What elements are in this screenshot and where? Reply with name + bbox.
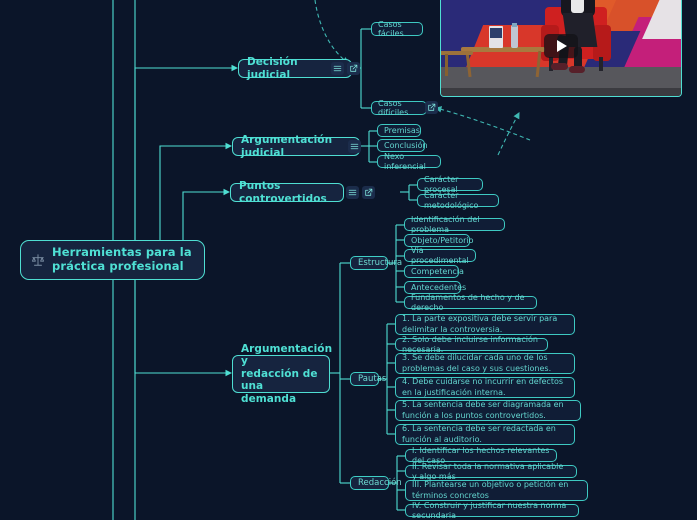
leaf-fundamentos-hecho-derecho[interactable]: Fundamentos de hecho y de derecho — [404, 296, 537, 309]
leaf-pauta-2[interactable]: 2. Solo debe incluirse información neces… — [395, 338, 548, 351]
list-note-icon[interactable] — [346, 186, 359, 199]
leaf-casos-dificiles[interactable]: Casos difíciles — [371, 101, 427, 115]
leaf-label: Casos fáciles — [378, 20, 416, 39]
group-label: Redacción — [358, 478, 402, 488]
root-node[interactable]: Herramientas para la práctica profesiona… — [20, 240, 205, 280]
leaf-label: Fundamentos de hecho y de derecho — [411, 293, 530, 312]
branch-label: Argumentación judicial — [241, 134, 351, 159]
leaf-pauta-6[interactable]: 6. La sentencia debe ser redactada en fu… — [395, 424, 575, 445]
branch-label: Puntos controvertidos — [239, 180, 335, 205]
external-link-icon[interactable] — [362, 186, 375, 199]
group-label: Pautas — [358, 374, 386, 384]
branch-argumentacion-redaccion-demanda[interactable]: Argumentación y redacción de una demanda — [232, 355, 330, 393]
external-link-icon[interactable] — [347, 62, 360, 75]
chips-argumentacion-judicial — [348, 140, 361, 153]
leaf-label: IV. Construir y justificar nuestra norma… — [412, 501, 572, 520]
leaf-label: Carácter metodológico — [424, 191, 492, 210]
leaf-label: Antecedentes — [411, 283, 466, 292]
leaf-redaccion-2[interactable]: II. Revisar toda la normativa aplicable … — [405, 465, 577, 478]
leaf-pauta-5[interactable]: 5. La sentencia debe ser diagramada en f… — [395, 400, 581, 421]
leaf-casos-faciles[interactable]: Casos fáciles — [371, 22, 423, 36]
leaf-conclusion[interactable]: Conclusión — [377, 139, 425, 152]
leaf-pauta-4[interactable]: 4. Debe cuidarse no incurrir en defectos… — [395, 377, 575, 398]
leaf-label: II. Revisar toda la normativa aplicable … — [412, 462, 570, 481]
leaf-nexo-inferencial[interactable]: Nexo inferencial — [377, 155, 441, 168]
leaf-label: III. Plantearse un objetivo o petición e… — [412, 480, 581, 501]
leaf-competencia[interactable]: Competencia — [404, 265, 459, 278]
video-thumbnail[interactable] — [440, 0, 682, 97]
leaf-label: Objeto/Petitorio — [411, 236, 474, 245]
scales-of-justice-icon — [30, 253, 45, 268]
leaf-label: 6. La sentencia debe ser redactada en fu… — [402, 424, 568, 445]
branch-puntos-controvertidos[interactable]: Puntos controvertidos — [230, 183, 344, 202]
leaf-identificacion-problema[interactable]: Identificación del problema — [404, 218, 505, 231]
leaf-pauta-3[interactable]: 3. Se debe dilucidar cada uno de los pro… — [395, 353, 575, 374]
group-redaccion[interactable]: Redacción — [350, 476, 389, 490]
leaf-objeto-petitorio[interactable]: Objeto/Petitorio — [404, 234, 470, 247]
chips-decision-judicial — [331, 62, 360, 75]
group-estructura[interactable]: Estructura — [350, 256, 388, 270]
leaf-label: Identificación del problema — [411, 215, 498, 234]
root-label: Herramientas para la práctica profesiona… — [52, 246, 192, 273]
group-label: Estructura — [358, 258, 402, 268]
leaf-label: Vía procedimental — [411, 246, 469, 265]
leaf-antecedentes[interactable]: Antecedentes — [404, 281, 461, 294]
play-button-icon[interactable] — [544, 34, 578, 58]
mindmap-canvas[interactable]: Herramientas para la práctica profesiona… — [0, 0, 697, 520]
leaf-redaccion-4[interactable]: IV. Construir y justificar nuestra norma… — [405, 504, 579, 517]
list-note-icon[interactable] — [348, 140, 361, 153]
leaf-label: 1. La parte expositiva debe servir para … — [402, 314, 568, 335]
leaf-label: 4. Debe cuidarse no incurrir en defectos… — [402, 377, 568, 398]
external-link-icon[interactable] — [425, 101, 438, 114]
leaf-caracter-procesal[interactable]: Carácter procesal — [417, 178, 483, 191]
leaf-pauta-1[interactable]: 1. La parte expositiva debe servir para … — [395, 314, 575, 335]
leaf-redaccion-3[interactable]: III. Plantearse un objetivo o petición e… — [405, 480, 588, 501]
leaf-label: 2. Solo debe incluirse información neces… — [402, 335, 541, 354]
leaf-label: Premisas — [384, 126, 420, 135]
group-pautas[interactable]: Pautas — [350, 372, 379, 386]
branch-label: Decisión judicial — [247, 56, 343, 81]
chips-casos-dificiles — [425, 101, 438, 114]
leaf-label: 3. Se debe dilucidar cada uno de los pro… — [402, 353, 568, 374]
leaf-label: 5. La sentencia debe ser diagramada en f… — [402, 400, 574, 421]
branch-argumentacion-judicial[interactable]: Argumentación judicial — [232, 137, 360, 156]
leaf-label: Conclusión — [384, 141, 428, 150]
leaf-label: Nexo inferencial — [384, 152, 434, 171]
list-note-icon[interactable] — [331, 62, 344, 75]
chips-puntos-controvertidos — [346, 186, 375, 199]
branch-label: Argumentación y redacción de una demanda — [241, 343, 332, 405]
leaf-premisas[interactable]: Premisas — [377, 124, 421, 137]
leaf-label: Casos difíciles — [378, 99, 420, 118]
leaf-label: Competencia — [411, 267, 464, 276]
leaf-redaccion-1[interactable]: I. Identificar los hechos relevantes del… — [405, 449, 557, 462]
leaf-caracter-metodologico[interactable]: Carácter metodológico — [417, 194, 499, 207]
leaf-via-procedimental[interactable]: Vía procedimental — [404, 249, 476, 262]
